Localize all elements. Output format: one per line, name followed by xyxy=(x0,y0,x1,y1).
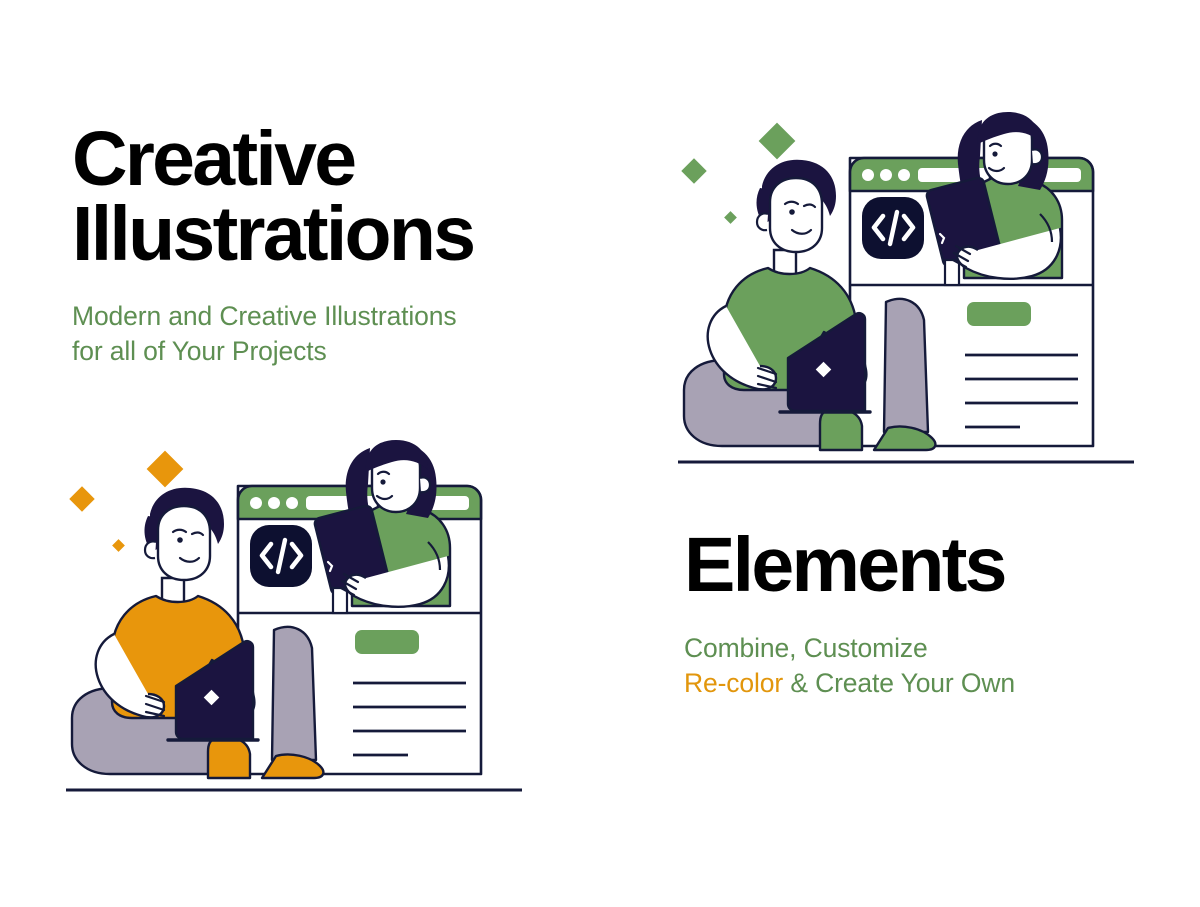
man-eye xyxy=(789,209,795,215)
headline-block-creative-illustrations: Creative Illustrations Modern and Creati… xyxy=(72,122,672,369)
subtitle-creative-illustrations: Modern and Creative Illustrations for al… xyxy=(72,299,672,369)
headline-line-2: Illustrations xyxy=(72,197,672,272)
woman-eye xyxy=(992,151,997,156)
page-title-creative-illustrations: Creative Illustrations xyxy=(72,122,672,273)
subtitle-line-2: for all of Your Projects xyxy=(72,334,672,369)
window-dot-2 xyxy=(268,497,280,509)
subtitle-elements: Combine, Customize Re-color & Create You… xyxy=(684,631,1184,701)
window-dot-3 xyxy=(286,497,298,509)
woman-figure xyxy=(927,112,1062,285)
diamond-icon-medium xyxy=(69,486,94,511)
coding-team-illustration-green xyxy=(668,110,1144,470)
card-button xyxy=(355,630,419,654)
headline-block-elements: Elements Combine, Customize Re-color & C… xyxy=(684,528,1184,701)
diamond-icon-large xyxy=(147,451,184,488)
window-dot-2 xyxy=(880,169,892,181)
window-dot-1 xyxy=(862,169,874,181)
subtitle-line-recolor: Re-color & Create Your Own xyxy=(684,666,1184,701)
headline-line-1: Creative xyxy=(72,122,672,197)
subtitle-accent-recolor: Re-color xyxy=(684,668,783,698)
subtitle-line-1: Modern and Creative Illustrations xyxy=(72,299,672,334)
headline-line-elements: Elements xyxy=(684,528,1184,603)
window-dot-3 xyxy=(898,169,910,181)
coding-team-illustration-orange xyxy=(56,438,532,798)
diamond-icon-small xyxy=(724,211,737,224)
window-dot-1 xyxy=(250,497,262,509)
woman-figure xyxy=(315,440,450,613)
diamond-icon-medium xyxy=(681,158,706,183)
code-icon xyxy=(862,197,924,259)
subtitle-recolor-rest: & Create Your Own xyxy=(783,668,1015,698)
page-title-elements: Elements xyxy=(684,528,1184,603)
diamond-icon-large xyxy=(759,123,796,160)
subtitle-line-combine: Combine, Customize xyxy=(684,631,1184,666)
card-button xyxy=(967,302,1031,326)
diamond-icon-small xyxy=(112,539,125,552)
code-icon xyxy=(250,525,312,587)
poster-canvas: Creative Illustrations Modern and Creati… xyxy=(0,0,1200,907)
man-eye xyxy=(177,537,183,543)
woman-eye xyxy=(380,479,385,484)
